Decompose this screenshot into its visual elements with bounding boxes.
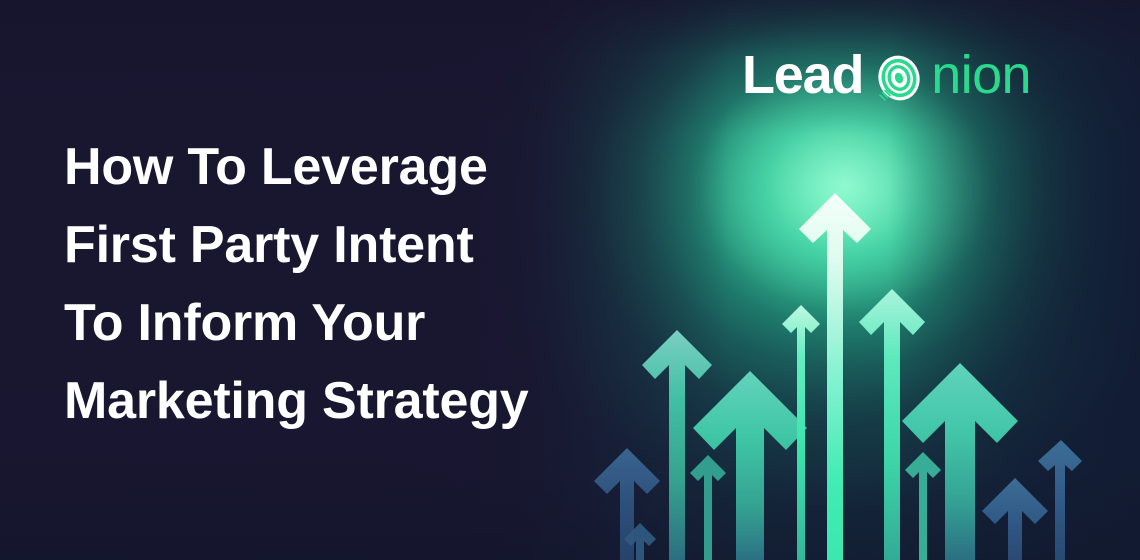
logo-word-lead: Lead [742,48,863,102]
logo-word-nion: nion [931,48,1031,102]
page-title: How To Leverage First Party Intent To In… [64,128,664,440]
arrow-blue-far-right [1038,440,1082,560]
arrow-small-right-mid [905,452,941,560]
arrow-blue-right-low [982,478,1048,560]
banner-root: How To Leverage First Party Intent To In… [0,0,1140,560]
arrow-hero-center [799,193,871,560]
brand-logo[interactable]: Lead nion [742,44,1031,106]
onion-rings-target-icon [869,47,929,107]
arrow-small-left-mid [690,455,726,560]
